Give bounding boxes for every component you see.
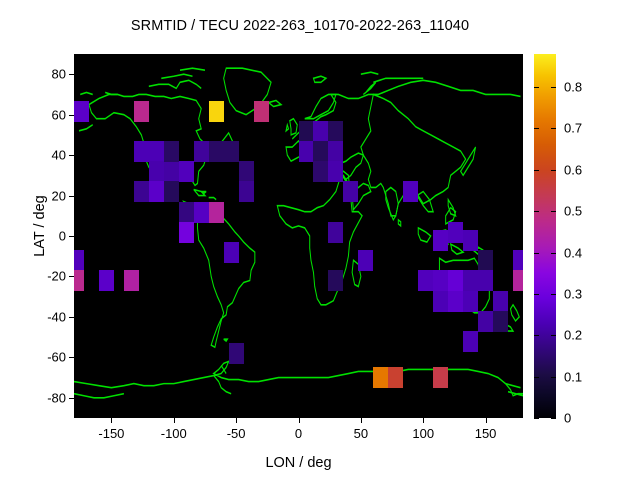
heatmap-cell (134, 101, 149, 122)
x-tick-label: 100 (412, 426, 434, 441)
heatmap-cell (179, 161, 194, 182)
colorbar-tick (534, 170, 539, 171)
x-tick (361, 418, 362, 423)
y-tick-label: -40 (28, 309, 66, 324)
heatmap-cell (478, 311, 493, 332)
colorbar-tick (551, 377, 556, 378)
colorbar-tick (534, 253, 539, 254)
y-tick (69, 74, 74, 75)
colorbar-tick (534, 377, 539, 378)
colorbar-tick-label: 0.1 (564, 369, 582, 384)
x-tick (299, 418, 300, 423)
heatmap-cell (513, 250, 523, 271)
colorbar-tick-label: 0.8 (564, 80, 582, 95)
heatmap-cell (224, 141, 239, 162)
heatmap-cell (358, 250, 373, 271)
x-tick (174, 418, 175, 423)
chart-title: SRMTID / TECU 2022-263_10170-2022-263_11… (0, 18, 600, 34)
colorbar-tick (534, 128, 539, 129)
heatmap-cell (328, 161, 343, 182)
heatmap-cell (149, 181, 164, 202)
colorbar-tick-label: 0.4 (564, 245, 582, 260)
heatmap-cell (448, 222, 463, 243)
colorbar-tick (551, 211, 556, 212)
heatmap-cell (124, 270, 139, 291)
y-tick (69, 155, 74, 156)
heatmap-cell (74, 250, 84, 271)
colorbar-tick (551, 87, 556, 88)
heatmap-cell (164, 141, 179, 162)
colorbar-tick-label: 0 (564, 411, 571, 426)
heatmap-cell (209, 101, 224, 122)
x-tick (236, 418, 237, 423)
heatmap-cell (299, 141, 314, 162)
heatmap-cell (99, 270, 114, 291)
heatmap-cell (313, 161, 328, 182)
heatmap-cell (179, 202, 194, 223)
map-plot-area (74, 54, 523, 418)
heatmap-cell (328, 141, 343, 162)
heatmap-cell (388, 367, 403, 388)
heatmap-cell (463, 331, 478, 352)
y-tick (69, 357, 74, 358)
heatmap-cell (463, 230, 478, 251)
heatmap-cell (74, 270, 84, 291)
heatmap-cell (513, 270, 523, 291)
heatmap-cell (209, 141, 224, 162)
colorbar-tick (534, 87, 539, 88)
heatmap-cell (478, 250, 493, 271)
heatmap-cell (418, 270, 433, 291)
y-tick (69, 317, 74, 318)
x-tick (486, 418, 487, 423)
heatmap-cell (403, 181, 418, 202)
x-tick-label: -100 (161, 426, 187, 441)
heatmap-cell (478, 270, 493, 291)
figure: SRMTID / TECU 2022-263_10170-2022-263_11… (0, 0, 640, 480)
heatmap-cell (448, 270, 463, 291)
heatmap-cell (194, 202, 209, 223)
x-axis-title: LON / deg (74, 455, 523, 471)
heatmap-cell (209, 202, 224, 223)
colorbar-tick (534, 418, 539, 419)
heatmap-cell (343, 181, 358, 202)
heatmap-cell (313, 141, 328, 162)
x-tick-label: 150 (475, 426, 497, 441)
x-tick (423, 418, 424, 423)
heatmap-cell (373, 367, 388, 388)
colorbar-tick-label: 0.5 (564, 204, 582, 219)
heatmap-cell (493, 291, 508, 312)
colorbar-tick (551, 294, 556, 295)
heatmap-cell (433, 367, 448, 388)
heatmap-cell (448, 291, 463, 312)
x-tick (111, 418, 112, 423)
heatmap-cell (433, 230, 448, 251)
colorbar-tick (534, 211, 539, 212)
colorbar-tick (551, 335, 556, 336)
heatmap-cell (433, 291, 448, 312)
colorbar-tick-label: 0.2 (564, 328, 582, 343)
heatmap-cell (328, 222, 343, 243)
colorbar-tick (551, 418, 556, 419)
heatmap-cell (229, 343, 244, 364)
heatmap-cell (463, 291, 478, 312)
heatmap-cell (74, 101, 89, 122)
colorbar-tick (551, 253, 556, 254)
y-tick-label: -80 (28, 390, 66, 405)
heatmap-cell (254, 101, 269, 122)
heatmap-cell (313, 121, 328, 142)
heatmap-cell (463, 270, 478, 291)
heatmap-cells (74, 54, 523, 418)
heatmap-cell (134, 181, 149, 202)
colorbar-tick (534, 294, 539, 295)
y-tick (69, 196, 74, 197)
y-tick-label: -60 (28, 350, 66, 365)
heatmap-cell (328, 121, 343, 142)
heatmap-cell (179, 222, 194, 243)
heatmap-cell (299, 121, 314, 142)
heatmap-cell (194, 141, 209, 162)
colorbar-tick-label: 0.7 (564, 121, 582, 136)
heatmap-cell (224, 242, 239, 263)
x-tick-label: -50 (227, 426, 246, 441)
y-tick-label: 60 (28, 107, 66, 122)
heatmap-cell (149, 161, 164, 182)
heatmap-cell (164, 161, 179, 182)
heatmap-cell (239, 161, 254, 182)
colorbar-tick (551, 128, 556, 129)
colorbar-tick-label: 0.6 (564, 162, 582, 177)
heatmap-cell (134, 141, 149, 162)
x-tick-label: 50 (354, 426, 368, 441)
heatmap-cell (239, 181, 254, 202)
y-tick (69, 398, 74, 399)
x-tick-label: 0 (295, 426, 302, 441)
x-tick-label: -150 (98, 426, 124, 441)
colorbar (534, 54, 556, 418)
heatmap-cell (433, 270, 448, 291)
heatmap-cell (164, 181, 179, 202)
colorbar-tick-label: 0.3 (564, 286, 582, 301)
colorbar-tick (551, 170, 556, 171)
heatmap-cell (149, 141, 164, 162)
y-tick (69, 236, 74, 237)
y-axis-title: LAT / deg (32, 146, 48, 306)
heatmap-cell (328, 270, 343, 291)
heatmap-cell (493, 311, 508, 332)
y-tick-label: 80 (28, 67, 66, 82)
y-tick (69, 115, 74, 116)
y-tick (69, 276, 74, 277)
colorbar-tick (534, 335, 539, 336)
